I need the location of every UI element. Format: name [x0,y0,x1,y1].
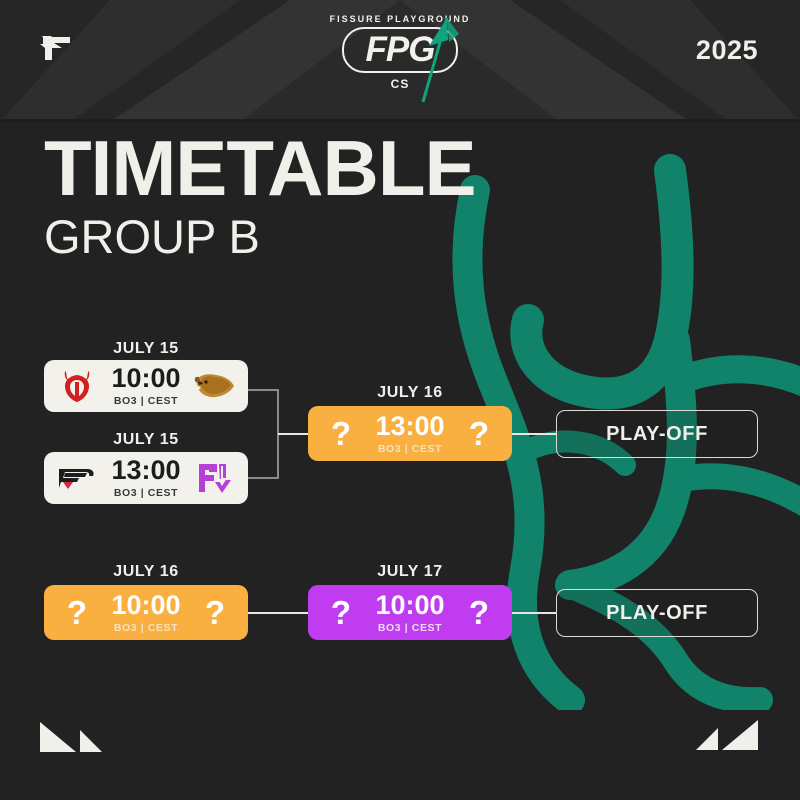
playoff-label-lower: PLAY-OFF [606,602,708,625]
unknown-team-icon: ? [469,596,489,629]
playoff-box-upper[interactable]: PLAY-OFF [556,410,758,458]
match-time-3: 13:00 [375,413,444,440]
match-info-5: 10:00 BO3 | CEST [374,592,446,634]
match-time-2: 13:00 [111,457,180,484]
horned-devil-logo [61,369,93,403]
playoff-label-upper: PLAY-OFF [606,423,708,446]
team-right-3: ? [446,417,512,450]
unknown-team-icon: ? [67,596,87,629]
corner-decoration-bottom-right [692,714,758,750]
unknown-team-icon: ? [331,596,351,629]
match-date-1: JULY 15 [44,340,248,358]
bear-head-logo [194,371,236,401]
match-info-1: 10:00 BO3 | CEST [110,365,182,407]
match-info-3: 13:00 BO3 | CEST [374,413,446,455]
pain-gaming-logo [57,465,97,491]
team-left-2 [44,465,110,491]
match-date-5: JULY 17 [308,563,512,581]
team-right-2 [182,461,248,495]
tournament-bracket: JULY 15 10:00 BO3 | CEST JUL [0,0,800,800]
match-card-4[interactable]: ? 10:00 BO3 | CEST ? [44,585,248,640]
match-time-1: 10:00 [111,365,180,392]
match-date-4: JULY 16 [44,563,248,581]
team-left-3: ? [308,417,374,450]
unknown-team-icon: ? [331,417,351,450]
team-right-5: ? [446,596,512,629]
match-date-3: JULY 16 [308,384,512,402]
match-info-2: 13:00 BO3 | CEST [110,457,182,499]
match-time-4: 10:00 [111,592,180,619]
match-meta-1: BO3 | CEST [114,395,178,407]
match-card-1[interactable]: 10:00 BO3 | CEST [44,360,248,412]
match-info-4: 10:00 BO3 | CEST [110,592,182,634]
purple-a-logo [197,461,233,495]
match-meta-2: BO3 | CEST [114,487,178,499]
team-left-1 [44,369,110,403]
match-time-5: 10:00 [375,592,444,619]
team-right-1 [182,371,248,401]
playoff-box-lower[interactable]: PLAY-OFF [556,589,758,637]
match-card-2[interactable]: 13:00 BO3 | CEST [44,452,248,504]
match-meta-3: BO3 | CEST [378,443,442,455]
team-left-5: ? [308,596,374,629]
match-date-2: JULY 15 [44,431,248,449]
match-meta-4: BO3 | CEST [114,622,178,634]
corner-decoration-bottom-left [40,716,106,752]
team-right-4: ? [182,596,248,629]
unknown-team-icon: ? [469,417,489,450]
team-left-4: ? [44,596,110,629]
match-card-3[interactable]: ? 13:00 BO3 | CEST ? [308,406,512,461]
match-card-5[interactable]: ? 10:00 BO3 | CEST ? [308,585,512,640]
match-meta-5: BO3 | CEST [378,622,442,634]
unknown-team-icon: ? [205,596,225,629]
